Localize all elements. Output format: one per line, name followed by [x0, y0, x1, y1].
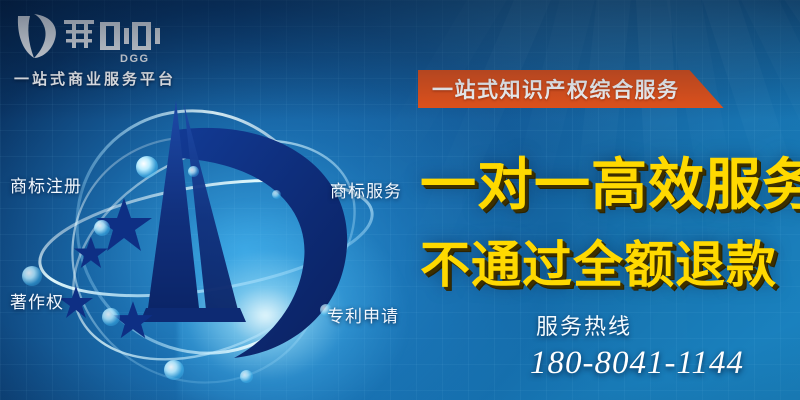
promo-headline-primary: 一对一高效服务: [420, 140, 800, 221]
feature-label-trademark-service: 商标服务: [330, 177, 402, 202]
promo-ribbon-text: 一站式知识产权综合服务: [432, 74, 680, 104]
feature-label-copyright: 著作权: [10, 288, 64, 313]
emblem-base: [140, 308, 246, 322]
ip-monogram-orbit-icon: [28, 70, 388, 390]
feature-label-trademark-registration: 商标注册: [10, 172, 82, 197]
promo-ribbon: 一站式知识产权综合服务: [418, 70, 724, 108]
brand-abbr: DGG: [120, 53, 150, 65]
promo-headline-secondary: 不通过全额退款: [420, 225, 777, 297]
brand-tagline: 一站式商业服务平台: [14, 68, 176, 89]
hotline-number[interactable]: 180-8041-1144: [530, 345, 744, 382]
emblem-graphic: [28, 70, 388, 390]
brand-logo[interactable]: DGG 一站式商业服务平台: [8, 8, 188, 92]
promo-banner: 商标注册 著作权 商标服务 专利申请: [0, 0, 800, 400]
hotline-label: 服务热线: [536, 309, 632, 341]
feature-label-patent-application: 专利申请: [327, 302, 399, 327]
dgg-leaf-logo-icon: DGG: [8, 8, 188, 66]
